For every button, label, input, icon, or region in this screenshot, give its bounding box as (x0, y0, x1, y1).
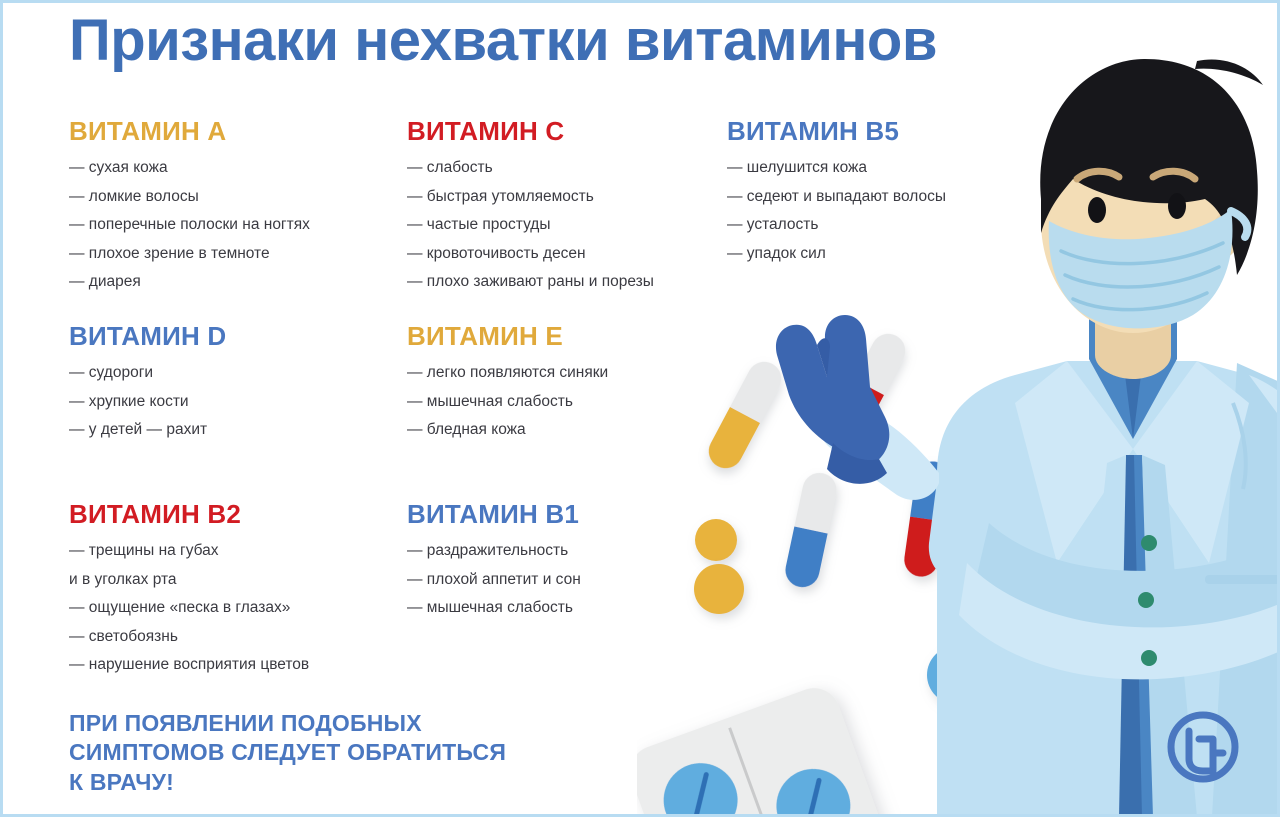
section-heading: ВИТАМИН B2 (69, 499, 309, 530)
call-to-action: ПРИ ПОЯВЛЕНИИ ПОДОБНЫХ СИМПТОМОВ СЛЕДУЕТ… (69, 709, 506, 797)
symptom-item: — слабость (407, 160, 654, 176)
coat-button (1138, 592, 1154, 608)
capsule-blue-red (902, 459, 952, 579)
symptom-item: — ломкие волосы (69, 189, 310, 205)
tablet-blue-scored (927, 646, 985, 704)
symptom-item: — раздражительность (407, 543, 581, 559)
symptom-item: — диарея (69, 274, 310, 290)
capsule-white-yellow (703, 356, 787, 474)
tablet-yellow-small (695, 519, 737, 561)
symptom-item: — плохое зрение в темноте (69, 246, 310, 262)
symptom-item: — седеют и выпадают волосы (727, 189, 946, 205)
symptom-item: — плохо заживают раны и порезы (407, 274, 654, 290)
infographic-poster: Признаки нехватки витаминов ВИТАМИН А — … (0, 0, 1280, 817)
symptom-item: — сухая кожа (69, 160, 310, 176)
section-vitamin-e: ВИТАМИН Е — легко появляются синяки — мы… (407, 321, 608, 451)
coat-button (1141, 535, 1157, 551)
section-heading: ВИТАМИН А (69, 116, 310, 147)
symptom-item: — быстрая утомляемость (407, 189, 654, 205)
section-vitamin-b1: ВИТАМИН B1 — раздражительность — плохой … (407, 499, 581, 629)
symptom-item: — легко появляются синяки (407, 365, 608, 381)
symptom-item: — хрупкие кости (69, 394, 226, 410)
section-heading: ВИТАМИН B1 (407, 499, 581, 530)
symptom-item: — мышечная слабость (407, 394, 608, 410)
symptom-item: — усталость (727, 217, 946, 233)
symptom-item: — нарушение восприятия цветов (69, 657, 309, 673)
symptom-item: — плохой аппетит и сон (407, 572, 581, 588)
symptom-item: — мышечная слабость (407, 600, 581, 616)
section-heading: ВИТАМИН Е (407, 321, 608, 352)
tablet-yellow-large (694, 564, 744, 614)
coat-button (1141, 650, 1157, 666)
symptom-item: — частые простуды (407, 217, 654, 233)
cta-line-2: СИМПТОМОВ СЛЕДУЕТ ОБРАТИТЬСЯ (69, 738, 506, 767)
glove (776, 315, 889, 469)
cta-line-1: ПРИ ПОЯВЛЕНИИ ПОДОБНЫХ (69, 709, 506, 738)
symptom-item: — ощущение «песка в глазах» (69, 600, 309, 616)
symptom-item: — кровоточивость десен (407, 246, 654, 262)
page-title: Признаки нехватки витаминов (69, 11, 1189, 72)
blister-pack (637, 681, 921, 817)
symptom-item: — трещины на губах (69, 543, 309, 559)
symptom-item: — упадок сил (727, 246, 946, 262)
section-vitamin-d: ВИТАМИН D — судороги — хрупкие кости — у… (69, 321, 226, 451)
section-heading: ВИТАМИН B5 (727, 116, 946, 147)
cta-line-3: К ВРАЧУ! (69, 768, 506, 797)
section-vitamin-b2: ВИТАМИН B2 — трещины на губах и в уголка… (69, 499, 309, 686)
symptom-item: — поперечные полоски на ногтях (69, 217, 310, 233)
section-heading: ВИТАМИН D (69, 321, 226, 352)
section-vitamin-b5: ВИТАМИН B5 — шелушится кожа — седеют и в… (727, 116, 946, 274)
section-vitamin-a: ВИТАМИН А — сухая кожа — ломкие волосы —… (69, 116, 310, 303)
symptom-item: — судороги (69, 365, 226, 381)
section-heading: ВИТАМИН С (407, 116, 654, 147)
logo-monogram (1171, 715, 1235, 779)
capsule-white-red (827, 328, 911, 446)
symptom-item: — шелушится кожа (727, 160, 946, 176)
symptom-item: — у детей — рахит (69, 422, 226, 438)
section-vitamin-c: ВИТАМИН С — слабость — быстрая утомляемо… (407, 116, 654, 303)
capsule-white-blue (782, 470, 839, 591)
symptom-item: — бледная кожа (407, 422, 608, 438)
symptom-item: — светобоязнь (69, 629, 309, 645)
symptom-item-continued: и в уголках рта (69, 572, 309, 588)
